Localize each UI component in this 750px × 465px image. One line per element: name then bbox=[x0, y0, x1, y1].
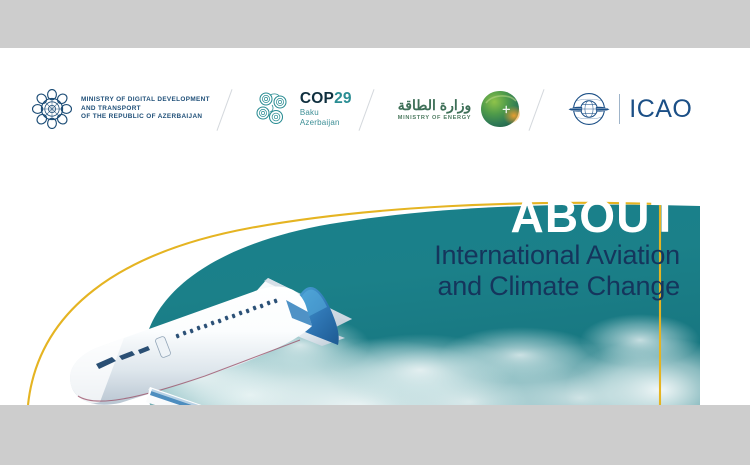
logo-icao[interactable]: ICAO bbox=[568, 90, 692, 128]
banner-canvas: ABOUT International Aviation and Climate… bbox=[0, 48, 750, 405]
cop29-title: COP29 bbox=[300, 91, 352, 107]
cop29-text: COP29 Baku Azerbaijan bbox=[300, 91, 352, 127]
partner-logo-bar: MINISTRY OF DIGITAL DEVELOPMENT AND TRAN… bbox=[0, 78, 750, 140]
logo-separator-2 bbox=[352, 84, 382, 134]
azerbaijan-ministry-text: MINISTRY OF DIGITAL DEVELOPMENT AND TRAN… bbox=[81, 96, 210, 121]
energy-text: وزارة الطاقة MINISTRY OF ENERGY bbox=[398, 98, 472, 121]
banner-stage: ABOUT International Aviation and Climate… bbox=[0, 0, 750, 465]
cop29-number: 29 bbox=[334, 90, 352, 107]
energy-english: MINISTRY OF ENERGY bbox=[398, 115, 472, 121]
logo-azerbaijan-ministry[interactable]: MINISTRY OF DIGITAL DEVELOPMENT AND TRAN… bbox=[32, 89, 210, 129]
icao-winged-globe-icon bbox=[568, 90, 610, 128]
energy-green-orb-icon bbox=[478, 89, 522, 129]
logo-ministry-of-energy[interactable]: وزارة الطاقة MINISTRY OF ENERGY bbox=[398, 89, 523, 129]
cop29-subtitle: Baku Azerbaijan bbox=[300, 108, 352, 127]
logo-separator-3 bbox=[522, 84, 552, 134]
icao-divider bbox=[619, 94, 620, 124]
logo-cop29[interactable]: COP29 Baku Azerbaijan bbox=[254, 90, 352, 128]
cop29-flower-cluster-icon bbox=[254, 90, 292, 128]
logo-separator-1 bbox=[210, 84, 240, 134]
icao-wordmark: ICAO bbox=[629, 97, 692, 122]
azerbaijan-rosette-emblem-icon bbox=[32, 89, 72, 129]
az-line3: OF THE REPUBLIC OF AZERBAIJAN bbox=[81, 113, 210, 121]
hero-artwork bbox=[0, 140, 750, 405]
az-line2: AND TRANSPORT bbox=[81, 105, 210, 113]
cop29-prefix: COP bbox=[300, 90, 334, 107]
cop29-sub-line2: Azerbaijan bbox=[300, 118, 352, 127]
az-line1: MINISTRY OF DIGITAL DEVELOPMENT bbox=[81, 96, 210, 104]
cop29-sub-line1: Baku bbox=[300, 108, 352, 117]
energy-arabic: وزارة الطاقة bbox=[398, 98, 472, 113]
